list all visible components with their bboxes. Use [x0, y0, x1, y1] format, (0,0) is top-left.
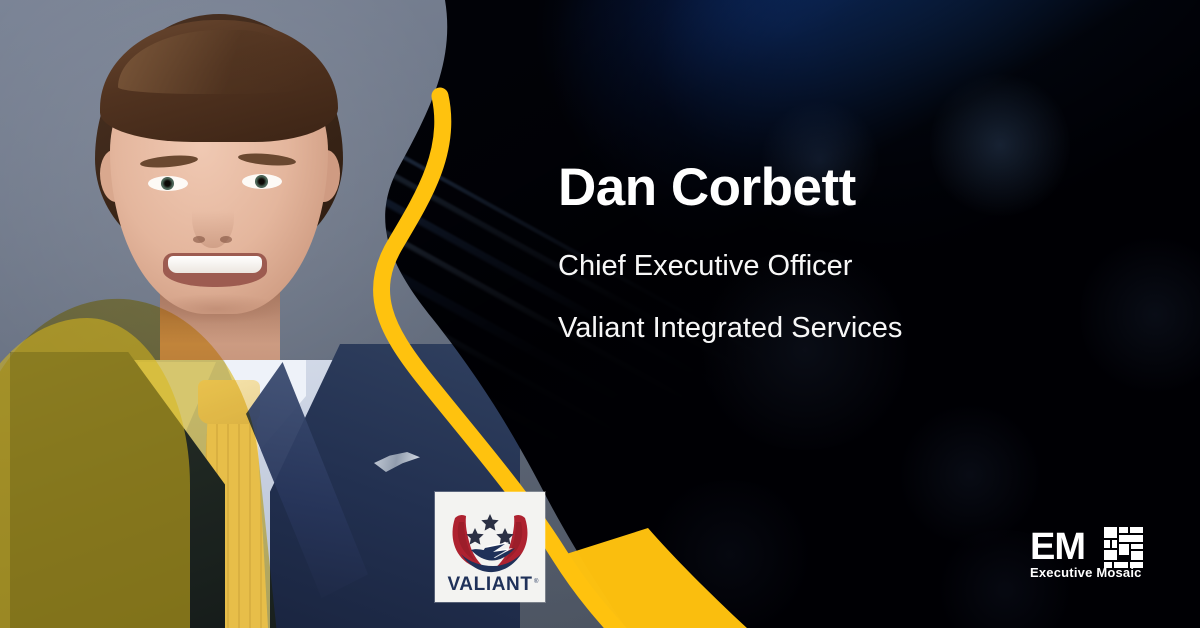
valiant-wordmark: VALIANT: [447, 574, 532, 595]
executive-profile-card: Dan Corbett Chief Executive Officer Vali…: [0, 0, 1200, 628]
profile-text-block: Dan Corbett Chief Executive Officer Vali…: [558, 160, 1118, 345]
person-company: Valiant Integrated Services: [558, 312, 1118, 345]
page-title: Dan Corbett: [558, 160, 1118, 216]
mosaic-grid-icon: [1104, 527, 1143, 568]
valiant-trademark: ®: [534, 578, 539, 585]
executive-mosaic-logo: EM Executive Mosaic: [1030, 523, 1154, 579]
person-title: Chief Executive Officer: [558, 250, 1118, 283]
em-monogram: EM: [1030, 526, 1085, 568]
em-wordmark: Executive Mosaic: [1030, 565, 1142, 579]
yellow-curve-tail: [560, 528, 760, 628]
valiant-logo: VALIANT ®: [435, 492, 545, 602]
